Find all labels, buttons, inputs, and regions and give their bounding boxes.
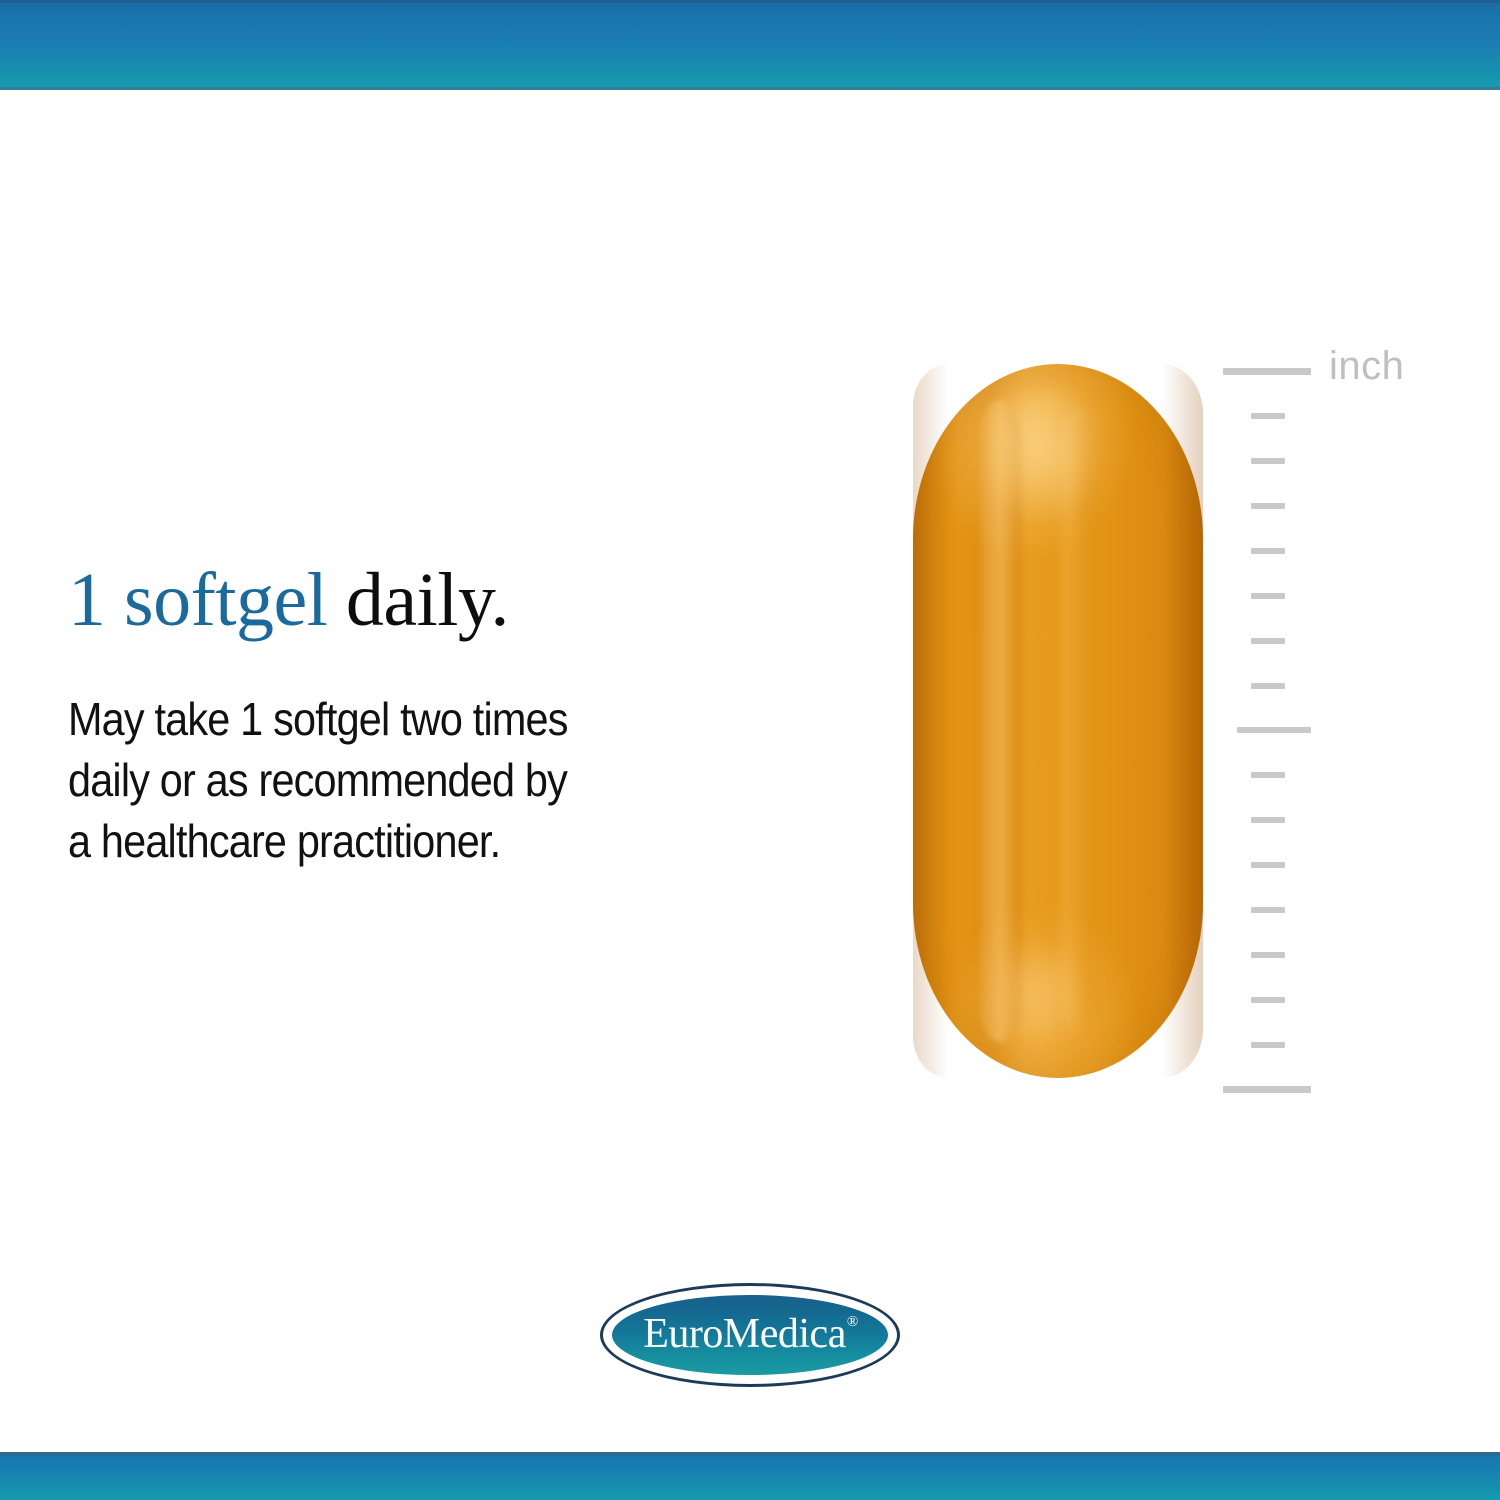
ruler-tick-minor (1251, 548, 1285, 554)
capsule-highlight-bottom (991, 935, 1084, 1049)
headline-accent: 1 softgel (68, 558, 327, 642)
headline-rest: daily. (327, 558, 509, 642)
ruler-tick-minor (1251, 593, 1285, 599)
ruler-tick-minor (1251, 907, 1285, 913)
logo-outline: EuroMedica® (600, 1283, 900, 1387)
inch-ruler: inch (1223, 364, 1423, 1094)
logo-brand-name: EuroMedica (643, 1311, 846, 1357)
ruler-tick-minor (1251, 503, 1285, 509)
dosage-instructions: May take 1 softgel two times daily or as… (68, 641, 779, 873)
ruler-tick-major (1223, 1086, 1311, 1093)
dosage-text-block: 1 softgel daily. May take 1 softgel two … (68, 560, 788, 872)
ruler-tick-minor (1251, 862, 1285, 868)
dosage-line-1: May take 1 softgel two times (68, 689, 779, 750)
ruler-tick-minor (1251, 772, 1285, 778)
bottom-brand-bar (0, 1452, 1500, 1500)
registered-trademark-icon: ® (847, 1314, 858, 1330)
dosage-line-3: a healthcare practitioner. (68, 811, 779, 872)
ruler-tick-minor (1251, 997, 1285, 1003)
ruler-tick-minor (1251, 817, 1285, 823)
ruler-tick-major (1223, 368, 1311, 375)
ruler-tick-minor (1251, 1042, 1285, 1048)
page-title: 1 softgel daily. (68, 560, 788, 641)
ruler-tick-minor (1251, 638, 1285, 644)
softgel-capsule-body (913, 364, 1203, 1078)
logo-white-ring: EuroMedica® (603, 1286, 897, 1384)
logo-wordmark: EuroMedica® (643, 1313, 857, 1355)
ruler-tick-minor (1251, 458, 1285, 464)
ruler-tick-minor (1251, 413, 1285, 419)
capsule-highlight-top (988, 385, 1104, 528)
ruler-unit-label: inch (1329, 344, 1404, 389)
dosage-line-2: daily or as recommended by (68, 750, 779, 811)
capsule-shadow-left (913, 364, 948, 1078)
softgel-capsule-image (913, 364, 1203, 1078)
ruler-tick-minor (1251, 683, 1285, 689)
euromedica-logo: EuroMedica® (600, 1283, 900, 1387)
logo-fill: EuroMedica® (612, 1295, 888, 1375)
capsule-shadow-right (1162, 364, 1203, 1078)
ruler-tick-half (1237, 727, 1311, 733)
top-brand-bar (0, 0, 1500, 90)
ruler-tick-minor (1251, 952, 1285, 958)
